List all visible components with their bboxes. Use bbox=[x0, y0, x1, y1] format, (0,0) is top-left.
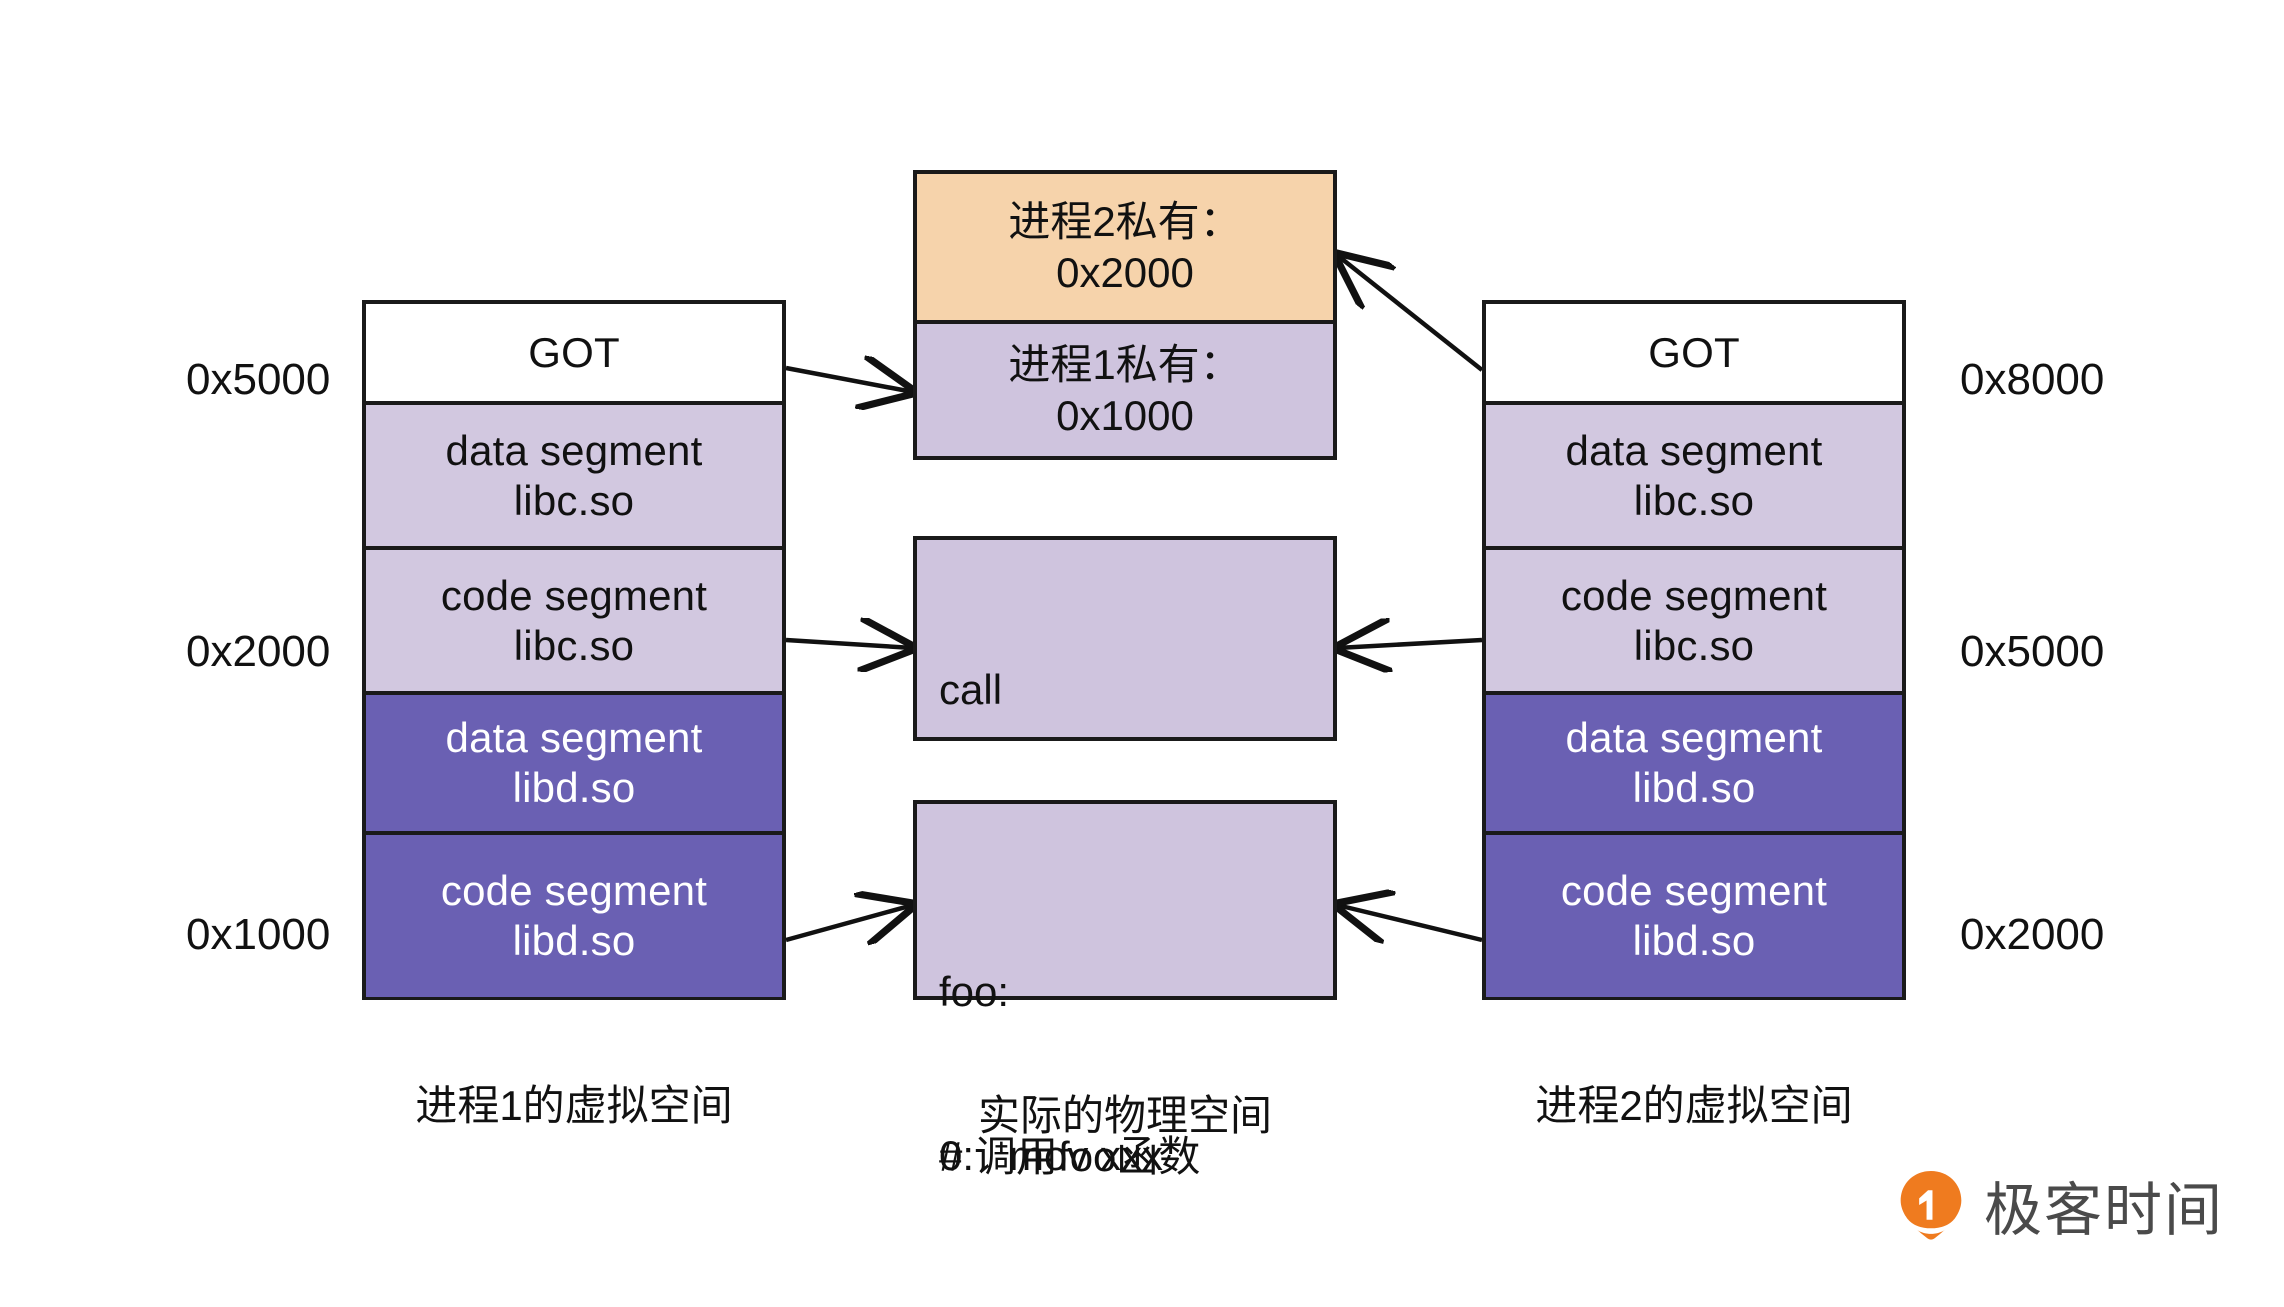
caption-process2: 进程2的虚拟空间 bbox=[1482, 1072, 1906, 1133]
process1-address-0x1000: 0x1000 bbox=[186, 910, 330, 960]
process2-address-space: GOT data segment libc.so code segment li… bbox=[1482, 300, 1906, 1000]
segment-label-line1: code segment bbox=[1561, 866, 1827, 916]
arrow-p2-got-to-physical bbox=[1337, 255, 1482, 370]
process1-segment-code-libd[interactable]: code segment libd.so bbox=[366, 831, 782, 997]
private-label-line2: 0x1000 bbox=[1056, 390, 1194, 441]
segment-label-line2: libc.so bbox=[514, 621, 634, 671]
process1-address-space: GOT data segment libc.so code segment li… bbox=[362, 300, 786, 1000]
segment-label-line2: libd.so bbox=[513, 916, 636, 966]
process2-segment-code-libc[interactable]: code segment libc.so bbox=[1486, 546, 1902, 691]
segment-label-line2: libc.so bbox=[1634, 621, 1754, 671]
private-label-line2: 0x2000 bbox=[1056, 247, 1194, 298]
segment-label-line1: data segment bbox=[1566, 426, 1823, 476]
process1-segment-got[interactable]: GOT bbox=[366, 304, 782, 401]
process2-segment-data-libc[interactable]: data segment libc.so bbox=[1486, 401, 1902, 546]
segment-label-line1: data segment bbox=[446, 426, 703, 476]
caption-process1: 进程1的虚拟空间 bbox=[362, 1072, 786, 1133]
process2-segment-code-libd[interactable]: code segment libd.so bbox=[1486, 831, 1902, 997]
physical-private-process2[interactable]: 进程2私有： 0x2000 bbox=[917, 174, 1333, 320]
brand-name: 极客时间 bbox=[1984, 1163, 2224, 1247]
arrow-p1-code-libc-to-physical bbox=[786, 640, 913, 648]
process1-segment-code-libc[interactable]: code segment libc.so bbox=[366, 546, 782, 691]
diagram-canvas: GOT data segment libc.so code segment li… bbox=[0, 0, 2284, 1307]
arrow-p2-code-libc-to-physical bbox=[1337, 640, 1482, 648]
caption-physical: 实际的物理空间 bbox=[913, 1082, 1337, 1143]
segment-label-line2: libc.so bbox=[514, 476, 634, 526]
segment-label-line2: libc.so bbox=[1634, 476, 1754, 526]
physical-foo-code-box[interactable]: foo: 0: mov xxx bbox=[913, 800, 1337, 1000]
physical-call-code-box[interactable]: call 0x3000(%rip)； # 调用foo函数 bbox=[913, 536, 1337, 741]
physical-private-process1[interactable]: 进程1私有： 0x1000 bbox=[917, 320, 1333, 456]
process2-segment-data-libd[interactable]: data segment libd.so bbox=[1486, 691, 1902, 831]
geektime-pin-icon bbox=[1894, 1168, 1968, 1242]
process1-address-0x2000: 0x2000 bbox=[186, 627, 330, 677]
process1-segment-data-libd[interactable]: data segment libd.so bbox=[366, 691, 782, 831]
private-label-line1: 进程2私有： bbox=[1008, 196, 1241, 247]
process2-address-0x5000: 0x5000 bbox=[1960, 627, 2104, 677]
arrow-p1-got-to-physical bbox=[786, 368, 913, 392]
segment-label-line1: data segment bbox=[1566, 713, 1823, 763]
process2-address-0x8000: 0x8000 bbox=[1960, 355, 2104, 405]
segment-label-line2: libd.so bbox=[1633, 916, 1756, 966]
segment-label-line1: code segment bbox=[1561, 571, 1827, 621]
process1-address-0x5000: 0x5000 bbox=[186, 355, 330, 405]
code-line-1: call bbox=[939, 663, 1333, 718]
segment-label-line2: libd.so bbox=[513, 763, 636, 813]
brand-logo: 极客时间 bbox=[1894, 1163, 2224, 1247]
segment-label-line2: libd.so bbox=[1633, 763, 1756, 813]
physical-private-box: 进程2私有： 0x2000 进程1私有： 0x1000 bbox=[913, 170, 1337, 460]
process2-segment-got[interactable]: GOT bbox=[1486, 304, 1902, 401]
arrow-p2-code-libd-to-physical bbox=[1337, 905, 1482, 940]
segment-label-line1: code segment bbox=[441, 571, 707, 621]
process1-segment-data-libc[interactable]: data segment libc.so bbox=[366, 401, 782, 546]
process2-address-0x2000: 0x2000 bbox=[1960, 910, 2104, 960]
foo-line-1: foo: bbox=[939, 965, 1333, 1020]
arrow-p1-code-libd-to-physical bbox=[786, 905, 913, 940]
private-label-line1: 进程1私有： bbox=[1008, 339, 1241, 390]
segment-label-line1: code segment bbox=[441, 866, 707, 916]
segment-label-line1: GOT bbox=[528, 328, 620, 378]
segment-label-line1: data segment bbox=[446, 713, 703, 763]
segment-label-line1: GOT bbox=[1648, 328, 1740, 378]
